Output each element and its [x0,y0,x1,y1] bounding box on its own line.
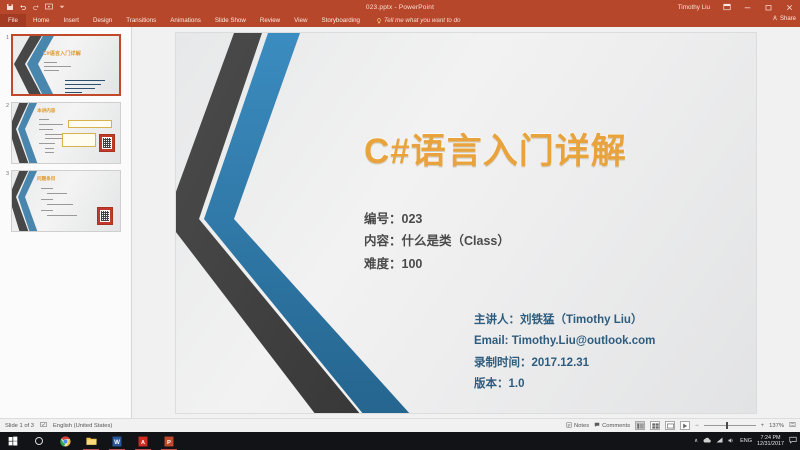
thumbnail-slide-1[interactable]: C#语言入门详解 [11,34,121,96]
tab-storyboarding[interactable]: Storyboarding [314,14,367,27]
thumbnail-item[interactable]: 1 C#语言入门详解 [0,31,131,99]
powerpoint-window: 023.pptx - PowerPoint Timothy Liu File H… [0,0,800,450]
share-person-icon [772,15,778,23]
comments-label: Comments [602,423,630,429]
cortana-search-icon[interactable] [26,432,52,450]
pdf-reader-icon[interactable]: A [130,432,156,450]
tab-view[interactable]: View [287,14,314,27]
volume-icon[interactable] [728,437,735,446]
reading-view-button[interactable] [665,421,675,430]
code-snippet-card [62,133,96,147]
tell-me-label: Tell me what you want to do [384,17,460,24]
tab-animations[interactable]: Animations [163,14,208,27]
notes-button[interactable]: Notes [566,422,589,430]
current-slide[interactable]: C#语言入门详解 编号：023 内容：什么是类（Class） 难度：100 主讲… [175,32,757,414]
thumbnail-title: 问题条目 [37,176,55,182]
tab-home[interactable]: Home [26,14,57,27]
svg-text:P: P [167,439,171,445]
workspace: 1 C#语言入门详解 [0,27,800,418]
comments-button[interactable]: Comments [594,422,630,430]
notes-label: Notes [574,423,589,429]
fit-slide-to-window-button[interactable] [789,421,796,430]
word-icon[interactable]: W [104,432,130,450]
tab-insert[interactable]: Insert [57,14,86,27]
slide-meta-block[interactable]: 编号：023 内容：什么是类（Class） 难度：100 [364,208,510,276]
thumbnail-slide-3[interactable]: 问题条目 [11,170,121,232]
comment-bubble-icon [594,422,600,430]
onedrive-icon[interactable] [703,437,711,445]
code-snippet-card [68,120,112,128]
zoom-out-button[interactable]: − [695,423,699,429]
network-icon[interactable] [716,437,723,445]
show-hidden-icons-button[interactable]: ∧ [694,438,698,444]
status-bar: Slide 1 of 3 English (United States) Not… [0,418,800,432]
slide-author-block[interactable]: 主讲人：刘铁猛（Timothy Liu） Email: Timothy.Liu@… [474,310,655,396]
notes-icon [566,422,572,430]
clock[interactable]: 7:24 PM 12/31/2017 [757,435,784,448]
zoom-slider[interactable] [704,425,756,426]
author-line-email: Email: Timothy.Liu@outlook.com [474,331,655,353]
zoom-slider-handle[interactable] [726,422,728,429]
file-explorer-icon[interactable] [78,432,104,450]
lightbulb-icon [376,18,382,24]
zoom-level[interactable]: 137% [769,423,784,429]
qr-code [99,134,115,152]
meta-line-number: 编号：023 [364,208,510,231]
slide-title[interactable]: C#语言入门详解 [364,123,627,174]
language-indicator[interactable]: English (United States) [53,423,112,429]
action-center-icon[interactable] [789,436,797,446]
title-bar: 023.pptx - PowerPoint Timothy Liu [0,0,800,14]
meta-line-difficulty: 难度：100 [364,253,510,276]
tab-design[interactable]: Design [86,14,119,27]
qr-code [97,207,113,225]
author-line-record-date: 录制时间：2017.12.31 [474,353,655,375]
meta-line-content: 内容：什么是类（Class） [364,230,510,253]
tab-transitions[interactable]: Transitions [119,14,163,27]
tab-file[interactable]: File [0,14,26,27]
slide-editing-area[interactable]: C#语言入门详解 编号：023 内容：什么是类（Class） 难度：100 主讲… [132,27,800,418]
language-indicator[interactable]: ENG [740,438,752,444]
tell-me-box[interactable]: Tell me what you want to do [367,17,460,24]
zoom-in-button[interactable]: + [761,423,765,429]
thumbnail-title: 本讲内容 [37,108,55,114]
slide-show-button[interactable] [680,421,690,430]
share-label: Share [780,16,796,22]
normal-view-button[interactable] [635,421,645,430]
author-line-presenter: 主讲人：刘铁猛（Timothy Liu） [474,310,655,332]
author-line-version: 版本：1.0 [474,374,655,396]
svg-text:A: A [141,439,145,445]
document-title: 023.pptx - PowerPoint [0,4,800,11]
chrome-icon[interactable] [52,432,78,450]
windows-taskbar: W A P ∧ ENG 7:24 PM 12/31/2017 [0,432,800,450]
share-button[interactable]: Share [772,15,796,23]
clock-date: 12/31/2017 [757,441,784,447]
powerpoint-icon[interactable]: P [156,432,182,450]
svg-text:W: W [114,438,120,445]
start-button[interactable] [0,432,26,450]
slide-thumbnail-pane[interactable]: 1 C#语言入门详解 [0,27,132,418]
system-tray: ∧ ENG 7:24 PM 12/31/2017 [694,435,800,448]
ribbon-tab-strip: File Home Insert Design Transitions Anim… [0,14,800,27]
thumbnail-title: C#语言入门详解 [43,50,81,57]
tab-slide-show[interactable]: Slide Show [208,14,253,27]
slide-counter[interactable]: Slide 1 of 3 [5,423,34,429]
thumbnail-number: 1 [2,34,11,41]
thumbnail-artwork [13,36,119,94]
thumbnail-item[interactable]: 2 本讲内容 [0,99,131,167]
spell-check-icon[interactable] [40,421,47,430]
thumbnail-item[interactable]: 3 问题条目 [0,167,131,235]
slide-sorter-view-button[interactable] [650,421,660,430]
thumbnail-number: 3 [2,170,11,177]
thumbnail-number: 2 [2,102,11,109]
thumbnail-slide-2[interactable]: 本讲内容 [11,102,121,164]
tab-review[interactable]: Review [253,14,287,27]
